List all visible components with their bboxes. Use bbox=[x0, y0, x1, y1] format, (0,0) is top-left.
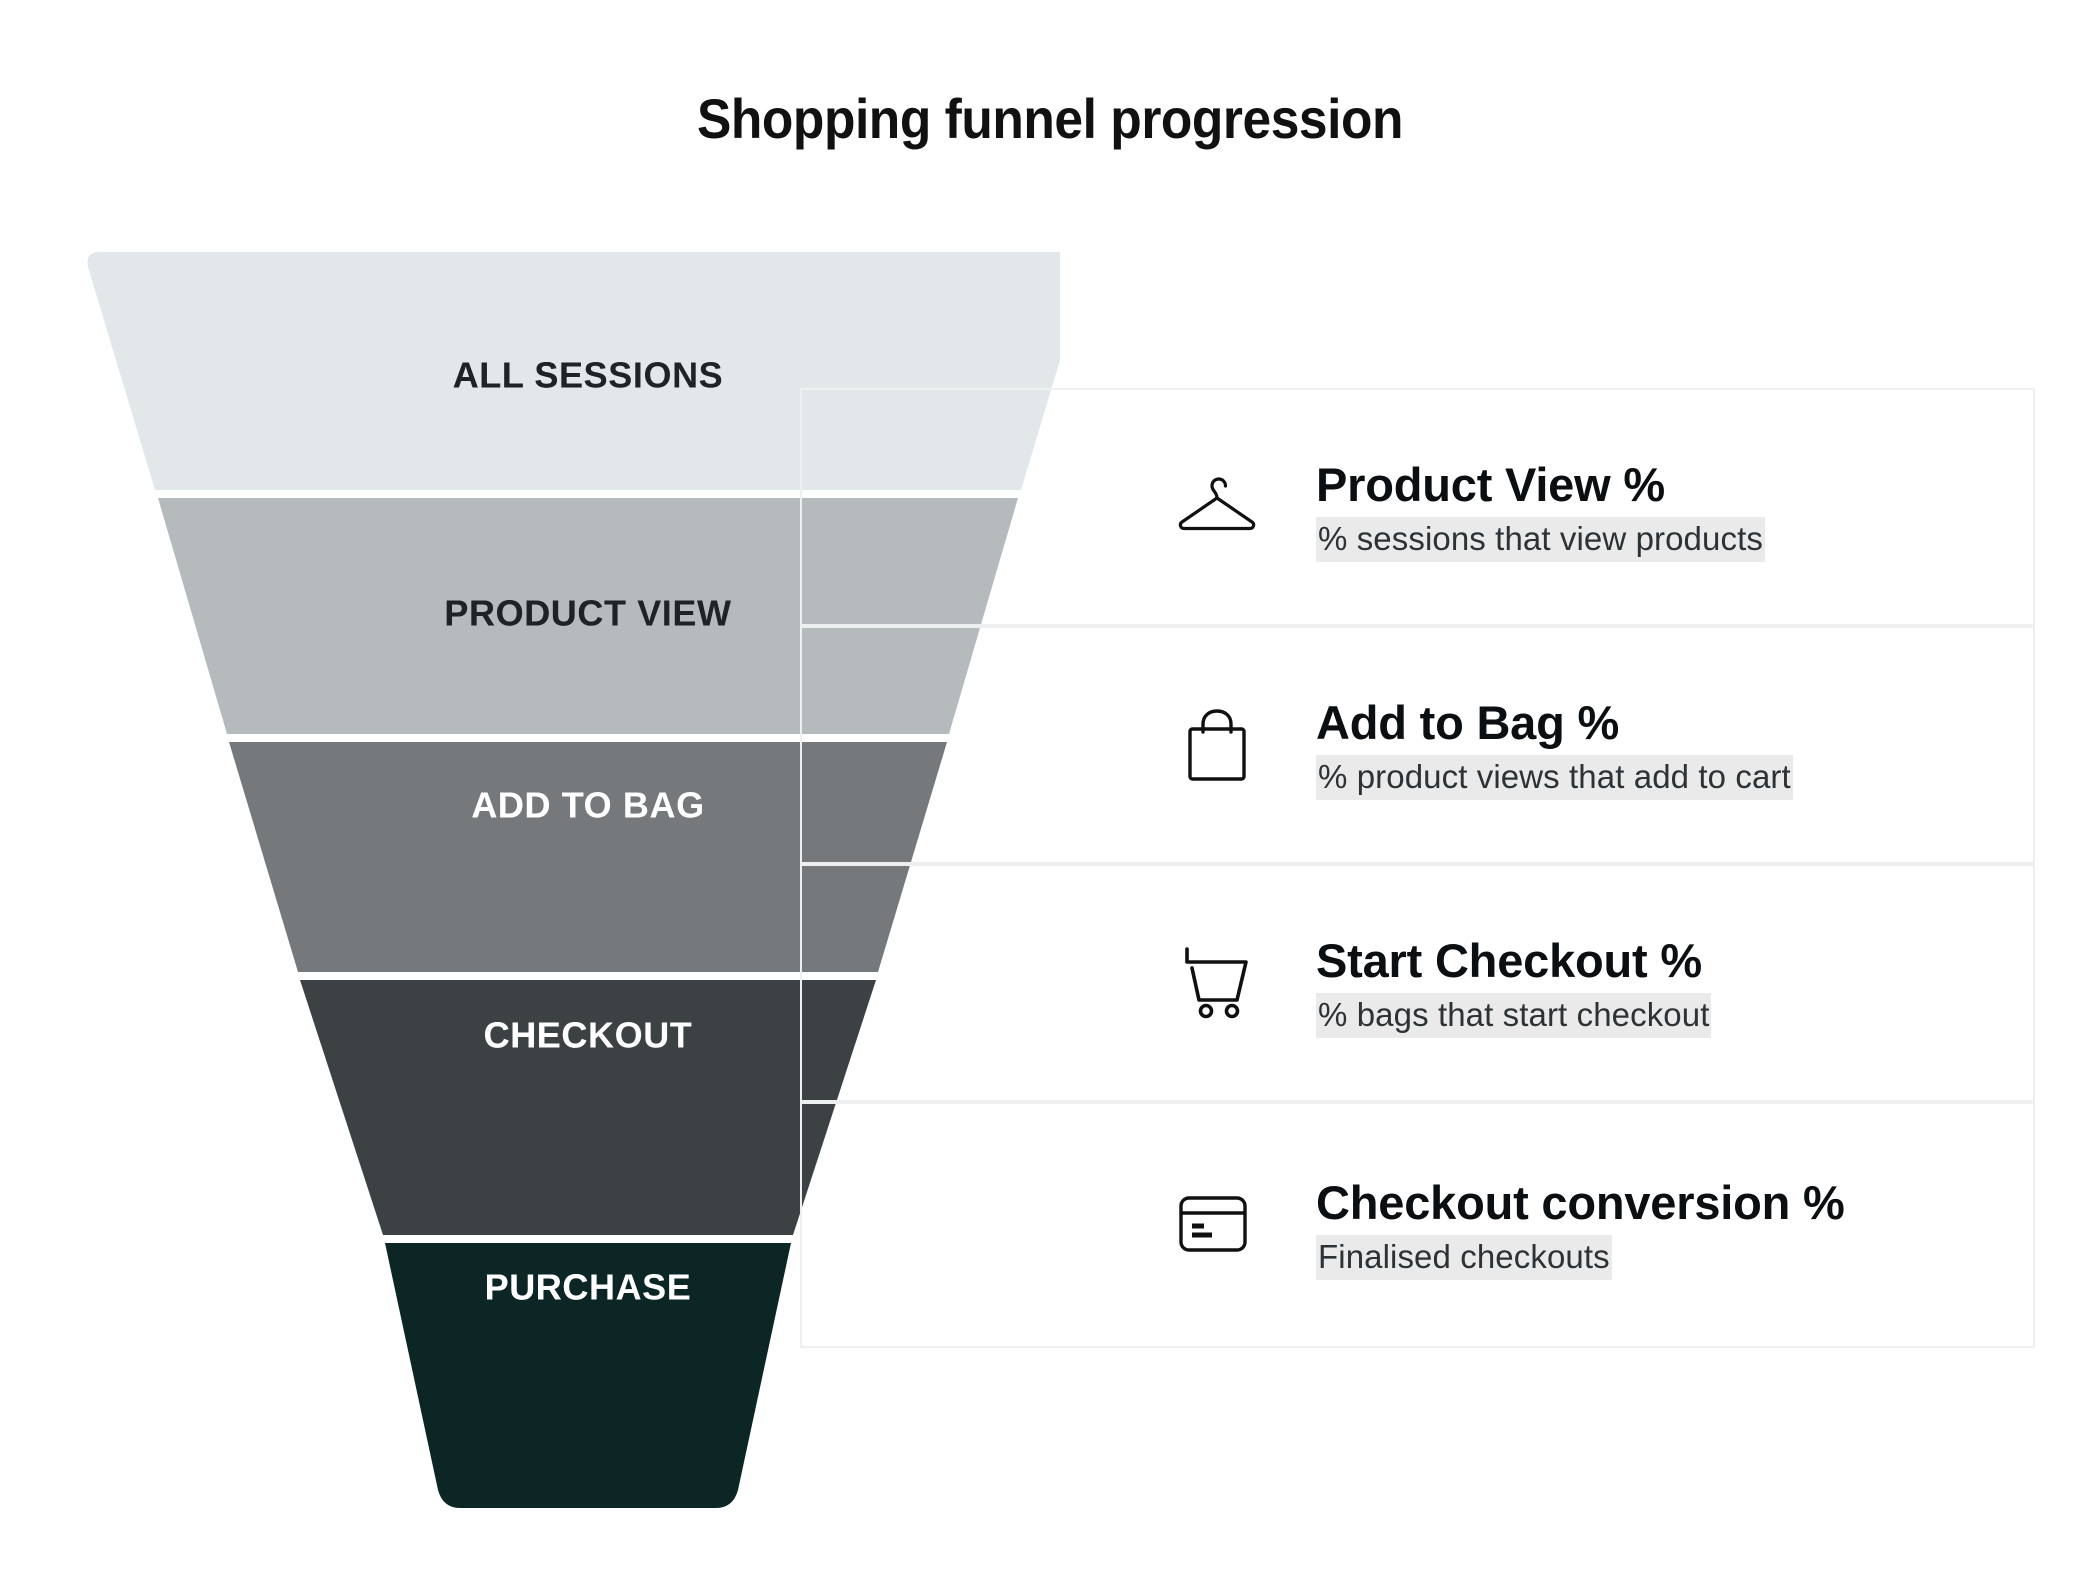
funnel-metric-legend: Product View % % sessions that view prod… bbox=[800, 388, 2035, 1348]
legend-subtitle: % product views that add to cart bbox=[1316, 755, 1793, 800]
legend-text-start-checkout: Start Checkout % % bags that start check… bbox=[1292, 935, 2033, 1032]
legend-subtitle-wrap: % sessions that view products bbox=[1316, 522, 2033, 555]
credit-card-icon bbox=[802, 1195, 1292, 1255]
hanger-icon bbox=[802, 476, 1292, 538]
legend-subtitle-wrap: % bags that start checkout bbox=[1316, 998, 2033, 1031]
legend-subtitle-wrap: % product views that add to cart bbox=[1316, 760, 2033, 793]
legend-subtitle-wrap: Finalised checkouts bbox=[1316, 1240, 2033, 1273]
legend-title: Start Checkout % bbox=[1316, 935, 2033, 987]
legend-text-product-view: Product View % % sessions that view prod… bbox=[1292, 459, 2033, 556]
legend-subtitle: % bags that start checkout bbox=[1316, 993, 1711, 1038]
legend-subtitle: % sessions that view products bbox=[1316, 517, 1765, 562]
legend-row-checkout-conversion[interactable]: Checkout conversion % Finalised checkout… bbox=[800, 1102, 2035, 1348]
funnel-label-product-view-top: PRODUCT VIEW bbox=[444, 593, 731, 634]
legend-row-product-view[interactable]: Product View % % sessions that view prod… bbox=[800, 388, 2035, 626]
funnel-label-purchase-top: PURCHASE bbox=[485, 1267, 692, 1308]
shopping-bag-icon bbox=[802, 708, 1292, 782]
legend-row-start-checkout[interactable]: Start Checkout % % bags that start check… bbox=[800, 864, 2035, 1102]
legend-text-add-to-bag: Add to Bag % % product views that add to… bbox=[1292, 697, 2033, 794]
funnel-chart-page: Shopping funnel progression ALL SESSIONS… bbox=[0, 0, 2100, 1569]
legend-subtitle: Finalised checkouts bbox=[1316, 1235, 1612, 1280]
legend-title: Checkout conversion % bbox=[1316, 1177, 2033, 1229]
legend-row-add-to-bag[interactable]: Add to Bag % % product views that add to… bbox=[800, 626, 2035, 864]
legend-title: Add to Bag % bbox=[1316, 697, 2033, 749]
shopping-cart-icon bbox=[802, 946, 1292, 1020]
funnel-label-all-sessions-top: ALL SESSIONS bbox=[453, 355, 724, 396]
legend-text-checkout-conversion: Checkout conversion % Finalised checkout… bbox=[1292, 1177, 2033, 1274]
funnel-label-add-to-bag-top: ADD TO BAG bbox=[471, 785, 704, 826]
legend-title: Product View % bbox=[1316, 459, 2033, 511]
funnel-label-checkout-top: CHECKOUT bbox=[484, 1015, 693, 1056]
page-title: Shopping funnel progression bbox=[84, 86, 2016, 151]
